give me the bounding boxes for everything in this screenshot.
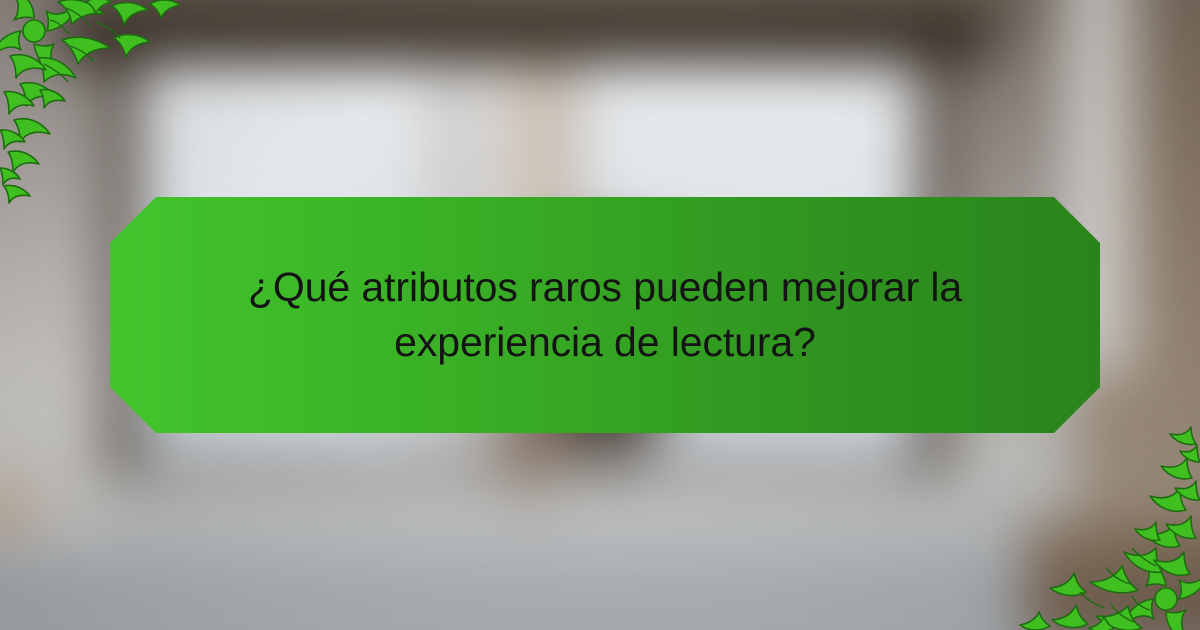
headline-banner: ¿Qué atributos raros pueden mejorar la e… [110, 197, 1100, 433]
banner-card: ¿Qué atributos raros pueden mejorar la e… [0, 0, 1200, 630]
banner-title: ¿Qué atributos raros pueden mejorar la e… [190, 260, 1020, 369]
